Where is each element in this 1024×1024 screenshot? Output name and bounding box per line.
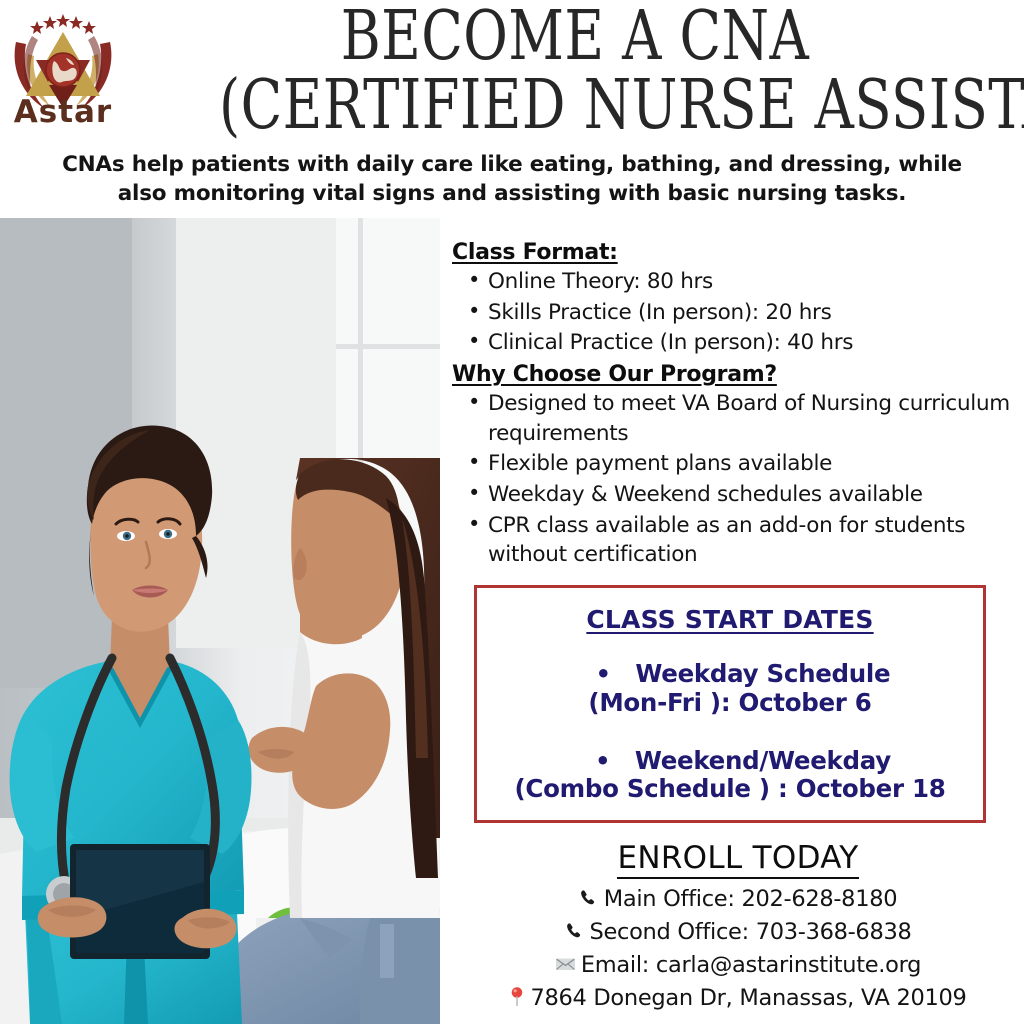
contact-address[interactable]: 7864 Donegan Dr, Manassas, VA 20109 (452, 985, 1024, 1011)
page-title: BECOME A CNA (CERTIFIED NURSE ASSISTANT) (130, 4, 1020, 139)
enroll-title: ENROLL TODAY (617, 840, 858, 879)
brand-name: Astar (14, 94, 112, 130)
photo-illustration (0, 218, 440, 1024)
why-choose-list: Designed to meet VA Board of Nursing cur… (452, 389, 1024, 570)
phone-icon (579, 888, 599, 908)
schedule-name: Weekend/Weekday (635, 746, 891, 775)
enroll-section: ENROLL TODAY Main Office: 202-628-8180 S… (452, 840, 1024, 1011)
astar-logo: Astar (4, 8, 122, 130)
list-item: Skills Practice (In person): 20 hrs (488, 298, 1024, 328)
title-line-1: BECOME A CNA (219, 4, 931, 71)
location-pin-icon (509, 986, 525, 1007)
flyer-page: Astar BECOME A CNA (CERTIFIED NURSE ASSI… (0, 0, 1024, 1024)
list-item: Weekday & Weekend schedules available (488, 480, 1024, 510)
phone-icon (565, 921, 585, 941)
why-choose-heading: Why Choose Our Program? (452, 362, 1024, 387)
envelope-icon (555, 954, 576, 974)
subtitle: CNAs help patients with daily care like … (42, 150, 982, 208)
program-details: Class Format: Online Theory: 80 hrs Skil… (452, 240, 1024, 571)
title-line-2: (CERTIFIED NURSE ASSISTANT) (219, 73, 931, 140)
class-start-date-entry: • Weekend/Weekday (Combo Schedule ) : Oc… (477, 747, 983, 804)
schedule-name: Weekday Schedule (635, 659, 890, 688)
list-item: Designed to meet VA Board of Nursing cur… (488, 389, 1024, 448)
contact-text: Main Office: 202-628-8180 (604, 886, 898, 912)
class-start-dates-box: CLASS START DATES • Weekday Schedule (Mo… (474, 585, 986, 823)
schedule-date: (Combo Schedule ) : October 18 (477, 775, 983, 803)
list-item: Online Theory: 80 hrs (488, 267, 1024, 297)
list-item: Clinical Practice (In person): 40 hrs (488, 328, 1024, 358)
list-item: CPR class available as an add-on for stu… (488, 511, 1024, 570)
contact-text: Email: carla@astarinstitute.org (581, 952, 921, 978)
bullet-icon: • (595, 747, 610, 775)
class-format-list: Online Theory: 80 hrs Skills Practice (I… (452, 267, 1024, 358)
list-item: Flexible payment plans available (488, 449, 1024, 479)
contact-text: 7864 Donegan Dr, Manassas, VA 20109 (530, 985, 966, 1011)
header: Astar BECOME A CNA (CERTIFIED NURSE ASSI… (0, 0, 1024, 218)
contact-main-office[interactable]: Main Office: 202-628-8180 (452, 886, 1024, 912)
contact-second-office[interactable]: Second Office: 703-368-6838 (452, 919, 1024, 945)
nurse-patient-photo (0, 218, 440, 1024)
class-start-dates-heading: CLASS START DATES (477, 605, 983, 634)
class-format-heading: Class Format: (452, 240, 1024, 265)
contact-email[interactable]: Email: carla@astarinstitute.org (452, 952, 1024, 978)
schedule-date: (Mon-Fri ): October 6 (477, 689, 983, 717)
contact-text: Second Office: 703-368-6838 (590, 919, 912, 945)
bullet-icon: • (596, 660, 611, 688)
class-start-date-entry: • Weekday Schedule (Mon-Fri ): October 6 (477, 660, 983, 717)
